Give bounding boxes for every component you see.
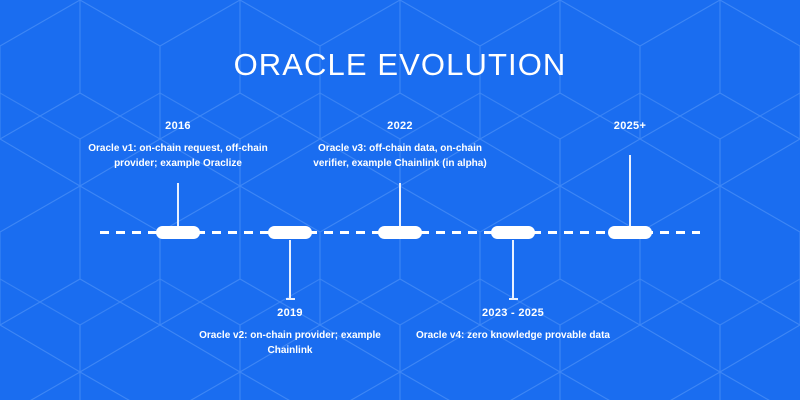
- timeline-marker: [156, 226, 200, 239]
- milestone-2023-2025: 2023 - 2025Oracle v4: zero knowledge pro…: [413, 307, 613, 343]
- milestone-description: Oracle v2: on-chain provider; example Ch…: [190, 328, 390, 358]
- timeline-marker: [491, 226, 535, 239]
- connector-arrow-icon: [509, 298, 518, 300]
- milestone-2016: 2016Oracle v1: on-chain request, off-cha…: [78, 120, 278, 171]
- milestone-connector: [177, 183, 179, 226]
- milestone-description: Oracle v4: zero knowledge provable data: [413, 328, 613, 343]
- slide-canvas: ORACLE EVOLUTION 2016Oracle v1: on-chain…: [0, 0, 800, 400]
- milestone-2022: 2022Oracle v3: off-chain data, on-chain …: [300, 120, 500, 171]
- milestone-description: Oracle v3: off-chain data, on-chain veri…: [300, 141, 500, 171]
- milestone-year: 2025+: [530, 120, 730, 132]
- page-title: ORACLE EVOLUTION: [0, 47, 800, 83]
- milestone-year: 2016: [78, 120, 278, 132]
- milestone-2019: 2019Oracle v2: on-chain provider; exampl…: [190, 307, 390, 358]
- milestone-description: Oracle v1: on-chain request, off-chain p…: [78, 141, 278, 171]
- milestone-year: 2023 - 2025: [413, 307, 613, 319]
- milestone-connector: [399, 183, 401, 226]
- milestone-year: 2019: [190, 307, 390, 319]
- milestone-year: 2022: [300, 120, 500, 132]
- milestone-connector: [629, 155, 631, 226]
- milestone-connector: [512, 240, 514, 298]
- connector-arrow-icon: [286, 298, 295, 300]
- timeline-marker: [378, 226, 422, 239]
- milestone-connector: [289, 240, 291, 298]
- milestone-2025-: 2025+: [530, 120, 730, 141]
- timeline-marker: [268, 226, 312, 239]
- timeline-marker: [608, 226, 652, 239]
